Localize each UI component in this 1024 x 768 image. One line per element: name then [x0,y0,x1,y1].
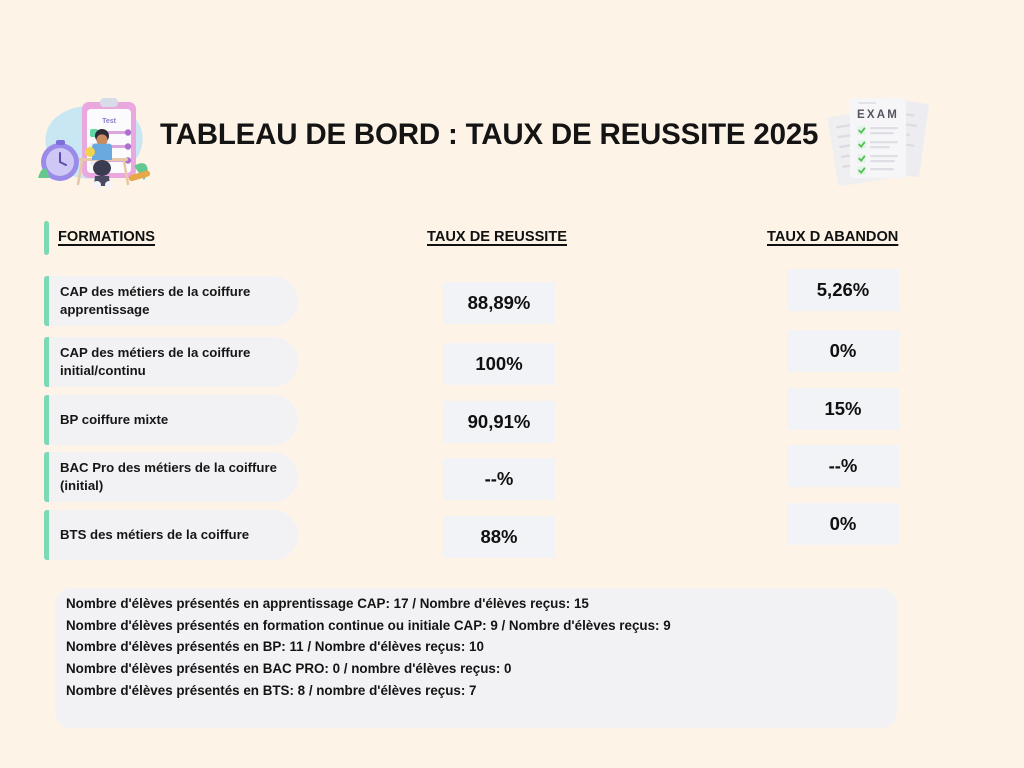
abandon-value: --% [787,445,899,487]
footer-line: Nombre d'élèves présentés en apprentissa… [66,593,883,615]
dashboard-header: Test [0,88,1024,194]
row-accent-bar [44,276,49,326]
reussite-value: 90,91% [443,401,555,443]
formation-label: CAP des métiers de la coiffure apprentis… [60,283,278,319]
reussite-value: 88% [443,516,555,558]
formation-label: BTS des métiers de la coiffure [60,526,278,544]
row-accent-bar [44,452,49,502]
reussite-value: 100% [443,343,555,385]
footer-line: Nombre d'élèves présentés en BTS: 8 / no… [66,680,883,702]
formation-label: CAP des métiers de la coiffure initial/c… [60,344,278,380]
formation-pill: CAP des métiers de la coiffure initial/c… [44,337,298,387]
row-accent-bar [44,510,49,560]
svg-text:Test: Test [102,118,117,125]
reussite-value: --% [443,458,555,500]
formation-label: BP coiffure mixte [60,411,278,429]
abandon-value: 0% [787,503,899,545]
column-header-taux-de-reussite: TAUX DE REUSSITE [427,229,567,245]
header-accent-bar [44,221,49,255]
table-row: BTS des métiers de la coiffure 88% 0% [0,510,1024,560]
table-row: BAC Pro des métiers de la coiffure (init… [0,452,1024,502]
clipboard-student-illustration: Test [34,98,158,190]
exam-papers-illustration: EXAM [824,86,934,192]
footer-line: Nombre d'élèves présentés en BP: 11 / No… [66,636,883,658]
footer-line: Nombre d'élèves présentés en BAC PRO: 0 … [66,658,883,680]
reussite-value: 88,89% [443,282,555,324]
abandon-value: 5,26% [787,269,899,311]
abandon-value: 15% [787,388,899,430]
formation-pill: CAP des métiers de la coiffure apprentis… [44,276,298,326]
table-row: CAP des métiers de la coiffure initial/c… [0,337,1024,387]
formation-pill: BP coiffure mixte [44,395,298,445]
footer-line: Nombre d'élèves présentés en formation c… [66,615,883,637]
column-header-formations: FORMATIONS [58,229,155,245]
table-body: CAP des métiers de la coiffure apprentis… [0,276,1024,566]
row-accent-bar [44,395,49,445]
table-row: CAP des métiers de la coiffure apprentis… [0,276,1024,326]
formation-pill: BTS des métiers de la coiffure [44,510,298,560]
footer-summary-panel: Nombre d'élèves présentés en apprentissa… [55,588,897,728]
abandon-value: 0% [787,330,899,372]
svg-text:EXAM: EXAM [857,109,899,121]
formation-pill: BAC Pro des métiers de la coiffure (init… [44,452,298,502]
column-header-taux-d-abandon: TAUX D ABANDON [767,229,898,245]
footer-summary-lines: Nombre d'élèves présentés en apprentissa… [66,593,883,702]
table-column-headers: FORMATIONS TAUX DE REUSSITE TAUX D ABAND… [0,220,1024,256]
row-accent-bar [44,337,49,387]
formation-label: BAC Pro des métiers de la coiffure (init… [60,459,278,495]
table-row: BP coiffure mixte 90,91% 15% [0,395,1024,445]
page-title: TABLEAU DE BORD : TAUX DE REUSSITE 2025 [160,118,818,152]
